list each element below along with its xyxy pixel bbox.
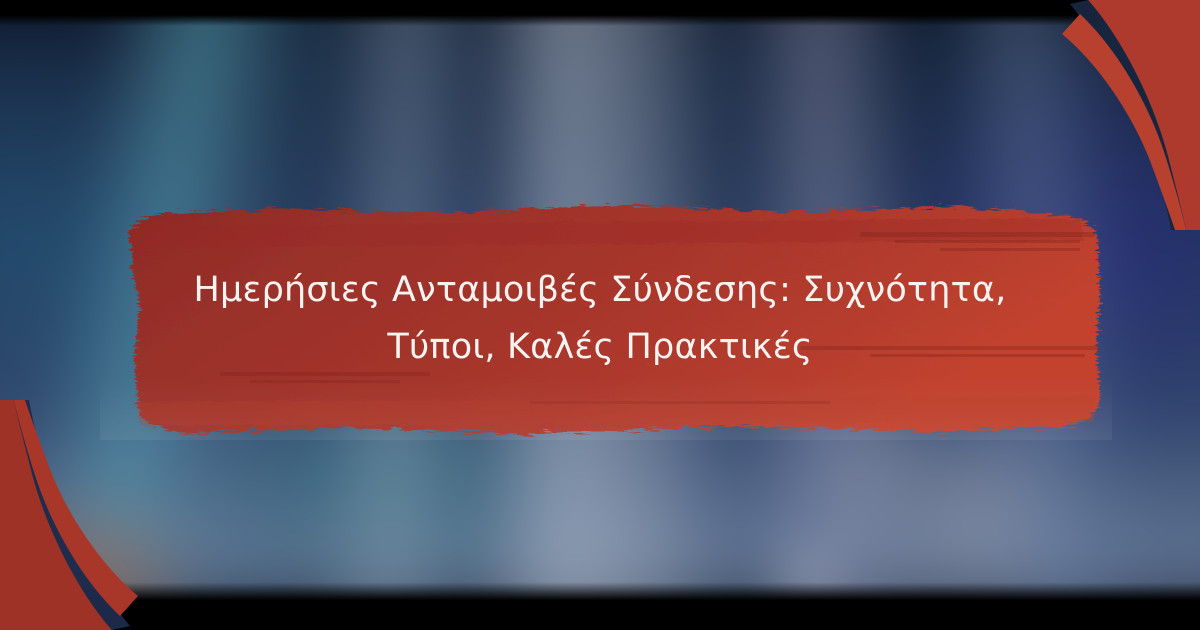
page-title: Ημερήσιες Ανταμοιβές Σύνδεσης: Συχνότητα…	[150, 262, 1050, 376]
letterbox-top-bar	[0, 0, 1200, 26]
letterbox-bottom-bar	[0, 582, 1200, 630]
cover-canvas: Ημερήσιες Ανταμοιβές Σύνδεσης: Συχνότητα…	[0, 0, 1200, 630]
